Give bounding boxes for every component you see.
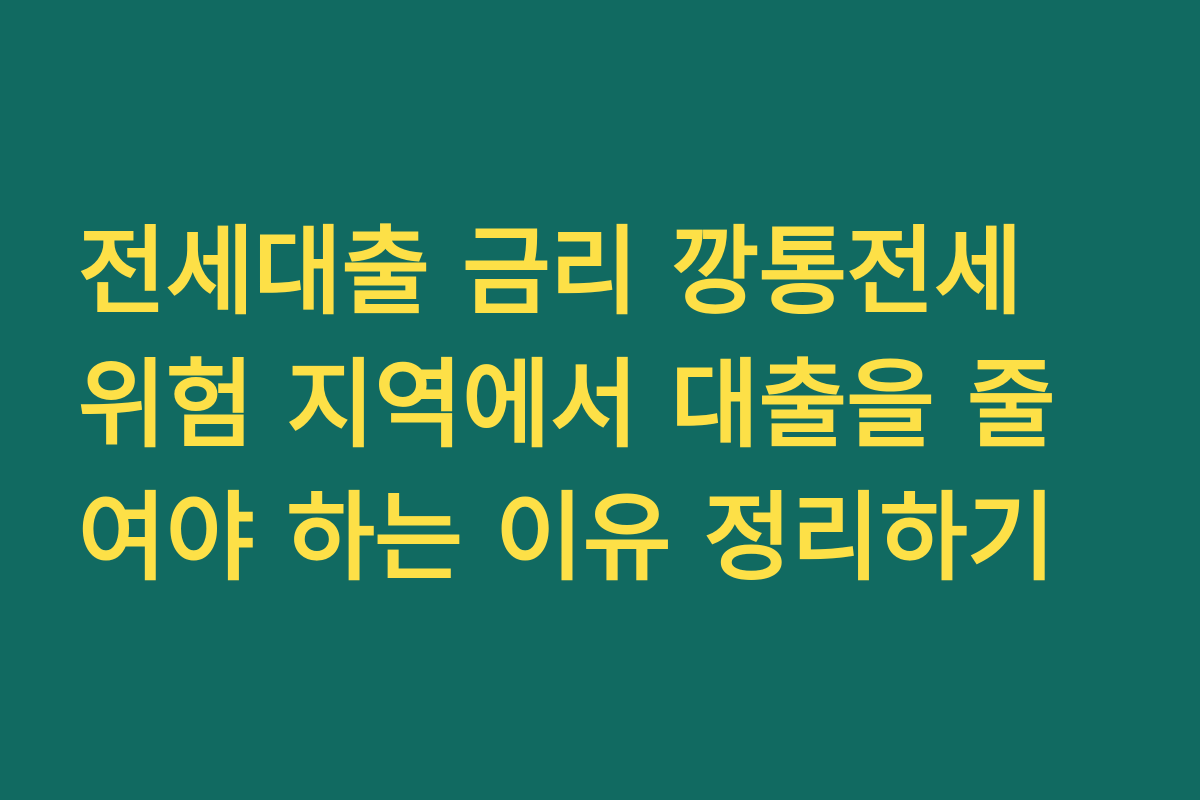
headline-text-block: 전세대출 금리 깡통전세 위험 지역에서 대출을 줄 여야 하는 이유 정리하기	[78, 206, 1124, 605]
headline-line-2: 위험 지역에서 대출을 줄	[78, 339, 1124, 472]
thumbnail-card: 전세대출 금리 깡통전세 위험 지역에서 대출을 줄 여야 하는 이유 정리하기	[0, 0, 1200, 800]
headline-line-1: 전세대출 금리 깡통전세	[78, 206, 1124, 339]
headline-line-3: 여야 하는 이유 정리하기	[78, 472, 1124, 605]
